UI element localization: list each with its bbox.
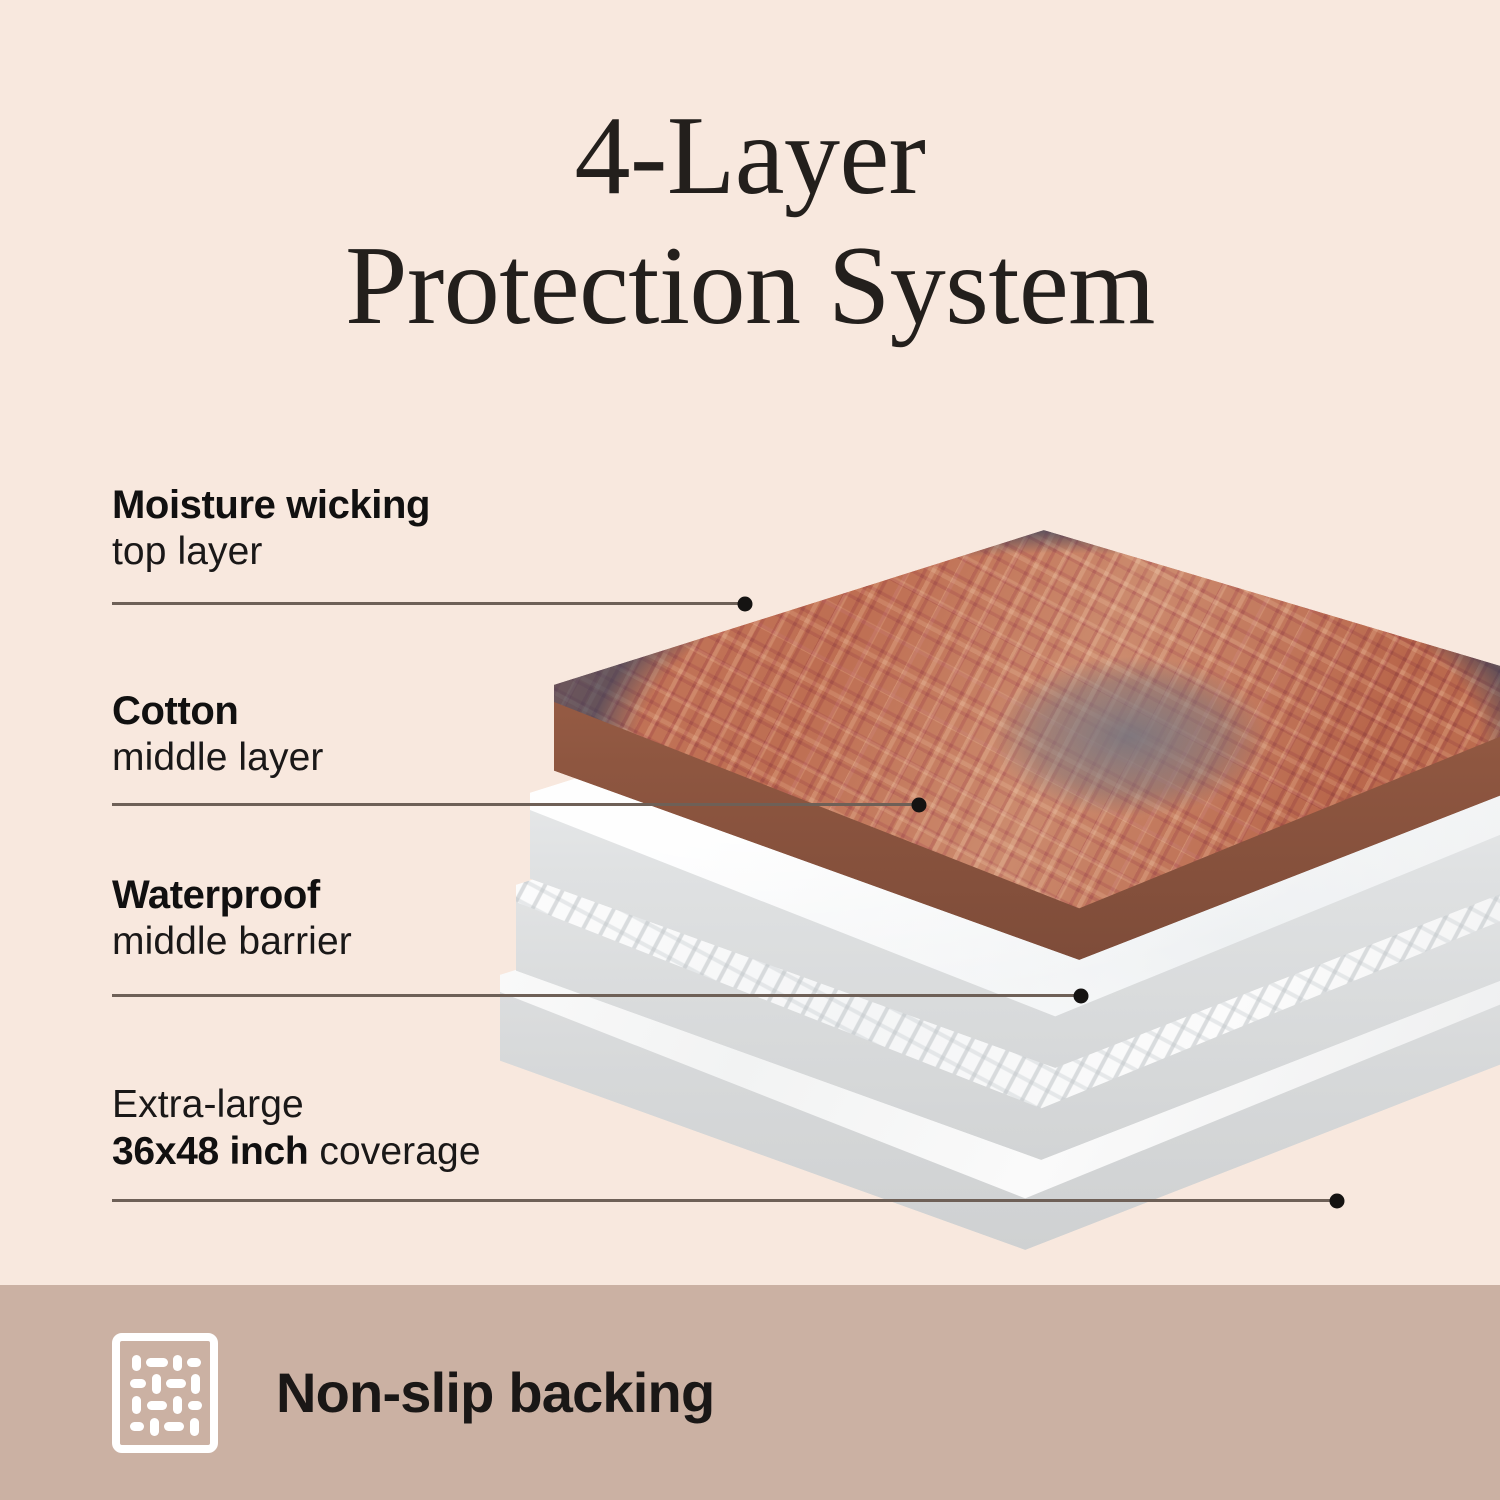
callout-moisture-wicking: Moisture wicking top layer	[112, 482, 430, 576]
leader-line-waterproof	[112, 994, 1080, 997]
callout-2-title: Cotton	[112, 688, 323, 735]
callout-waterproof: Waterproof middle barrier	[112, 872, 352, 966]
callout-extra-large: Extra-large 36x48 inch coverage	[112, 1082, 481, 1176]
title-line-2: Protection System	[0, 222, 1500, 352]
callout-3-title: Waterproof	[112, 872, 352, 919]
page-title: 4-Layer Protection System	[0, 92, 1500, 352]
callout-1-title: Moisture wicking	[112, 482, 430, 529]
leader-dot-3	[1074, 988, 1089, 1003]
callout-2-subtitle: middle layer	[112, 735, 323, 782]
product-layer-stack	[520, 380, 1500, 1250]
callout-1-subtitle: top layer	[112, 529, 430, 576]
callout-3-subtitle: middle barrier	[112, 919, 352, 966]
footer-content: Non-slip backing	[112, 1285, 714, 1500]
callout-4-size-suffix: coverage	[308, 1130, 480, 1173]
leader-dot-1	[738, 596, 753, 611]
leader-line-cotton	[112, 803, 918, 806]
title-line-1: 4-Layer	[0, 92, 1500, 222]
leader-line-extra-large	[112, 1199, 1336, 1202]
callout-cotton: Cotton middle layer	[112, 688, 323, 782]
leader-line-moisture-wicking	[112, 602, 744, 605]
callout-4-size-line: 36x48 inch coverage	[112, 1129, 481, 1176]
footer-label: Non-slip backing	[276, 1360, 714, 1425]
infographic-canvas: 4-Layer Protection System Moisture wicki…	[0, 0, 1500, 1500]
leader-dot-2	[912, 797, 927, 812]
non-slip-weave-icon	[112, 1333, 218, 1453]
callout-4-size-value: 36x48 inch	[112, 1130, 308, 1173]
leader-dot-4	[1330, 1193, 1345, 1208]
callout-4-title: Extra-large	[112, 1082, 481, 1129]
footer-bar: Non-slip backing	[0, 1285, 1500, 1500]
